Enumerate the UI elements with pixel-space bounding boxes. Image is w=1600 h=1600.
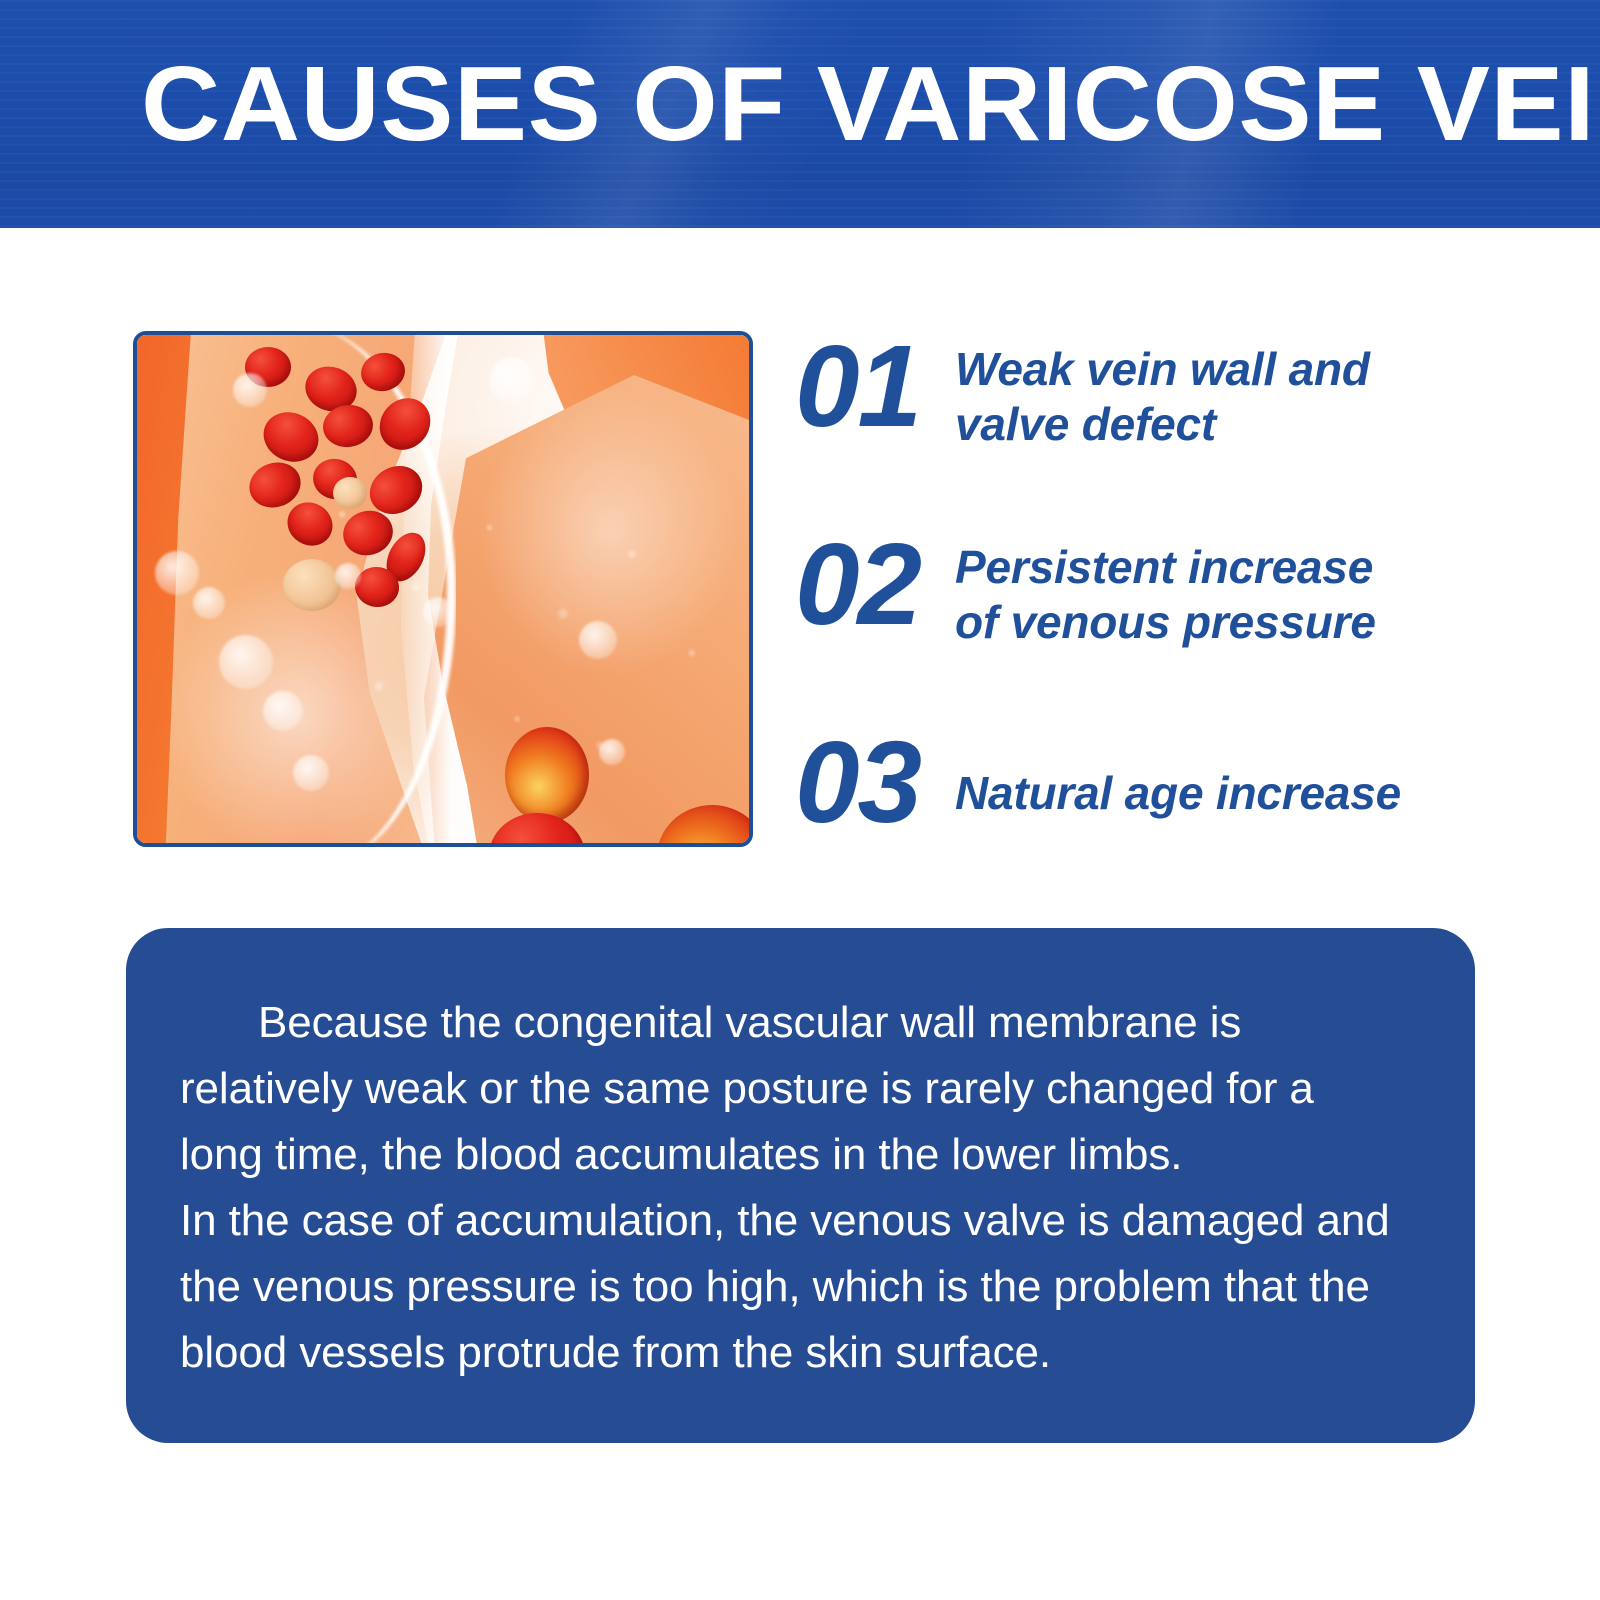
vein-illustration-image [137,335,749,843]
bokeh-highlight [233,373,267,407]
bokeh-highlight [579,621,617,659]
red-blood-cell-pale [333,477,367,509]
bokeh-highlight [489,357,535,403]
bokeh-highlight [599,739,625,765]
vein-illustration-panel [133,331,753,847]
red-blood-cell-pale [283,559,341,611]
cause-label-03: Natural age increase [955,726,1425,821]
bokeh-highlight [193,587,225,619]
cause-label-02: Persistent increase of venous pressure [955,528,1425,650]
cause-number-03: 03 [795,726,955,838]
explanation-body: Because the congenital vascular wall mem… [180,990,1403,1386]
cause-label-01: Weak vein wall and valve defect [955,330,1425,452]
cause-number-02: 02 [795,528,955,640]
bokeh-highlight [335,563,361,589]
cause-item-01: 01 Weak vein wall and valve defect [795,330,1425,452]
bokeh-highlight [155,551,199,595]
bokeh-highlight [219,635,273,689]
bokeh-highlight [293,755,329,791]
page-title: CAUSES OF VARICOSE VEINS [141,48,1487,160]
cause-item-03: 03 Natural age increase [795,726,1425,838]
header-banner: CAUSES OF VARICOSE VEINS [0,0,1600,228]
cause-item-02: 02 Persistent increase of venous pressur… [795,528,1425,650]
cause-number-01: 01 [795,330,955,442]
bokeh-highlight [423,597,453,627]
bokeh-highlight [263,691,303,731]
explanation-card: Because the congenital vascular wall mem… [126,928,1475,1443]
red-blood-cell-highlight [505,727,589,823]
